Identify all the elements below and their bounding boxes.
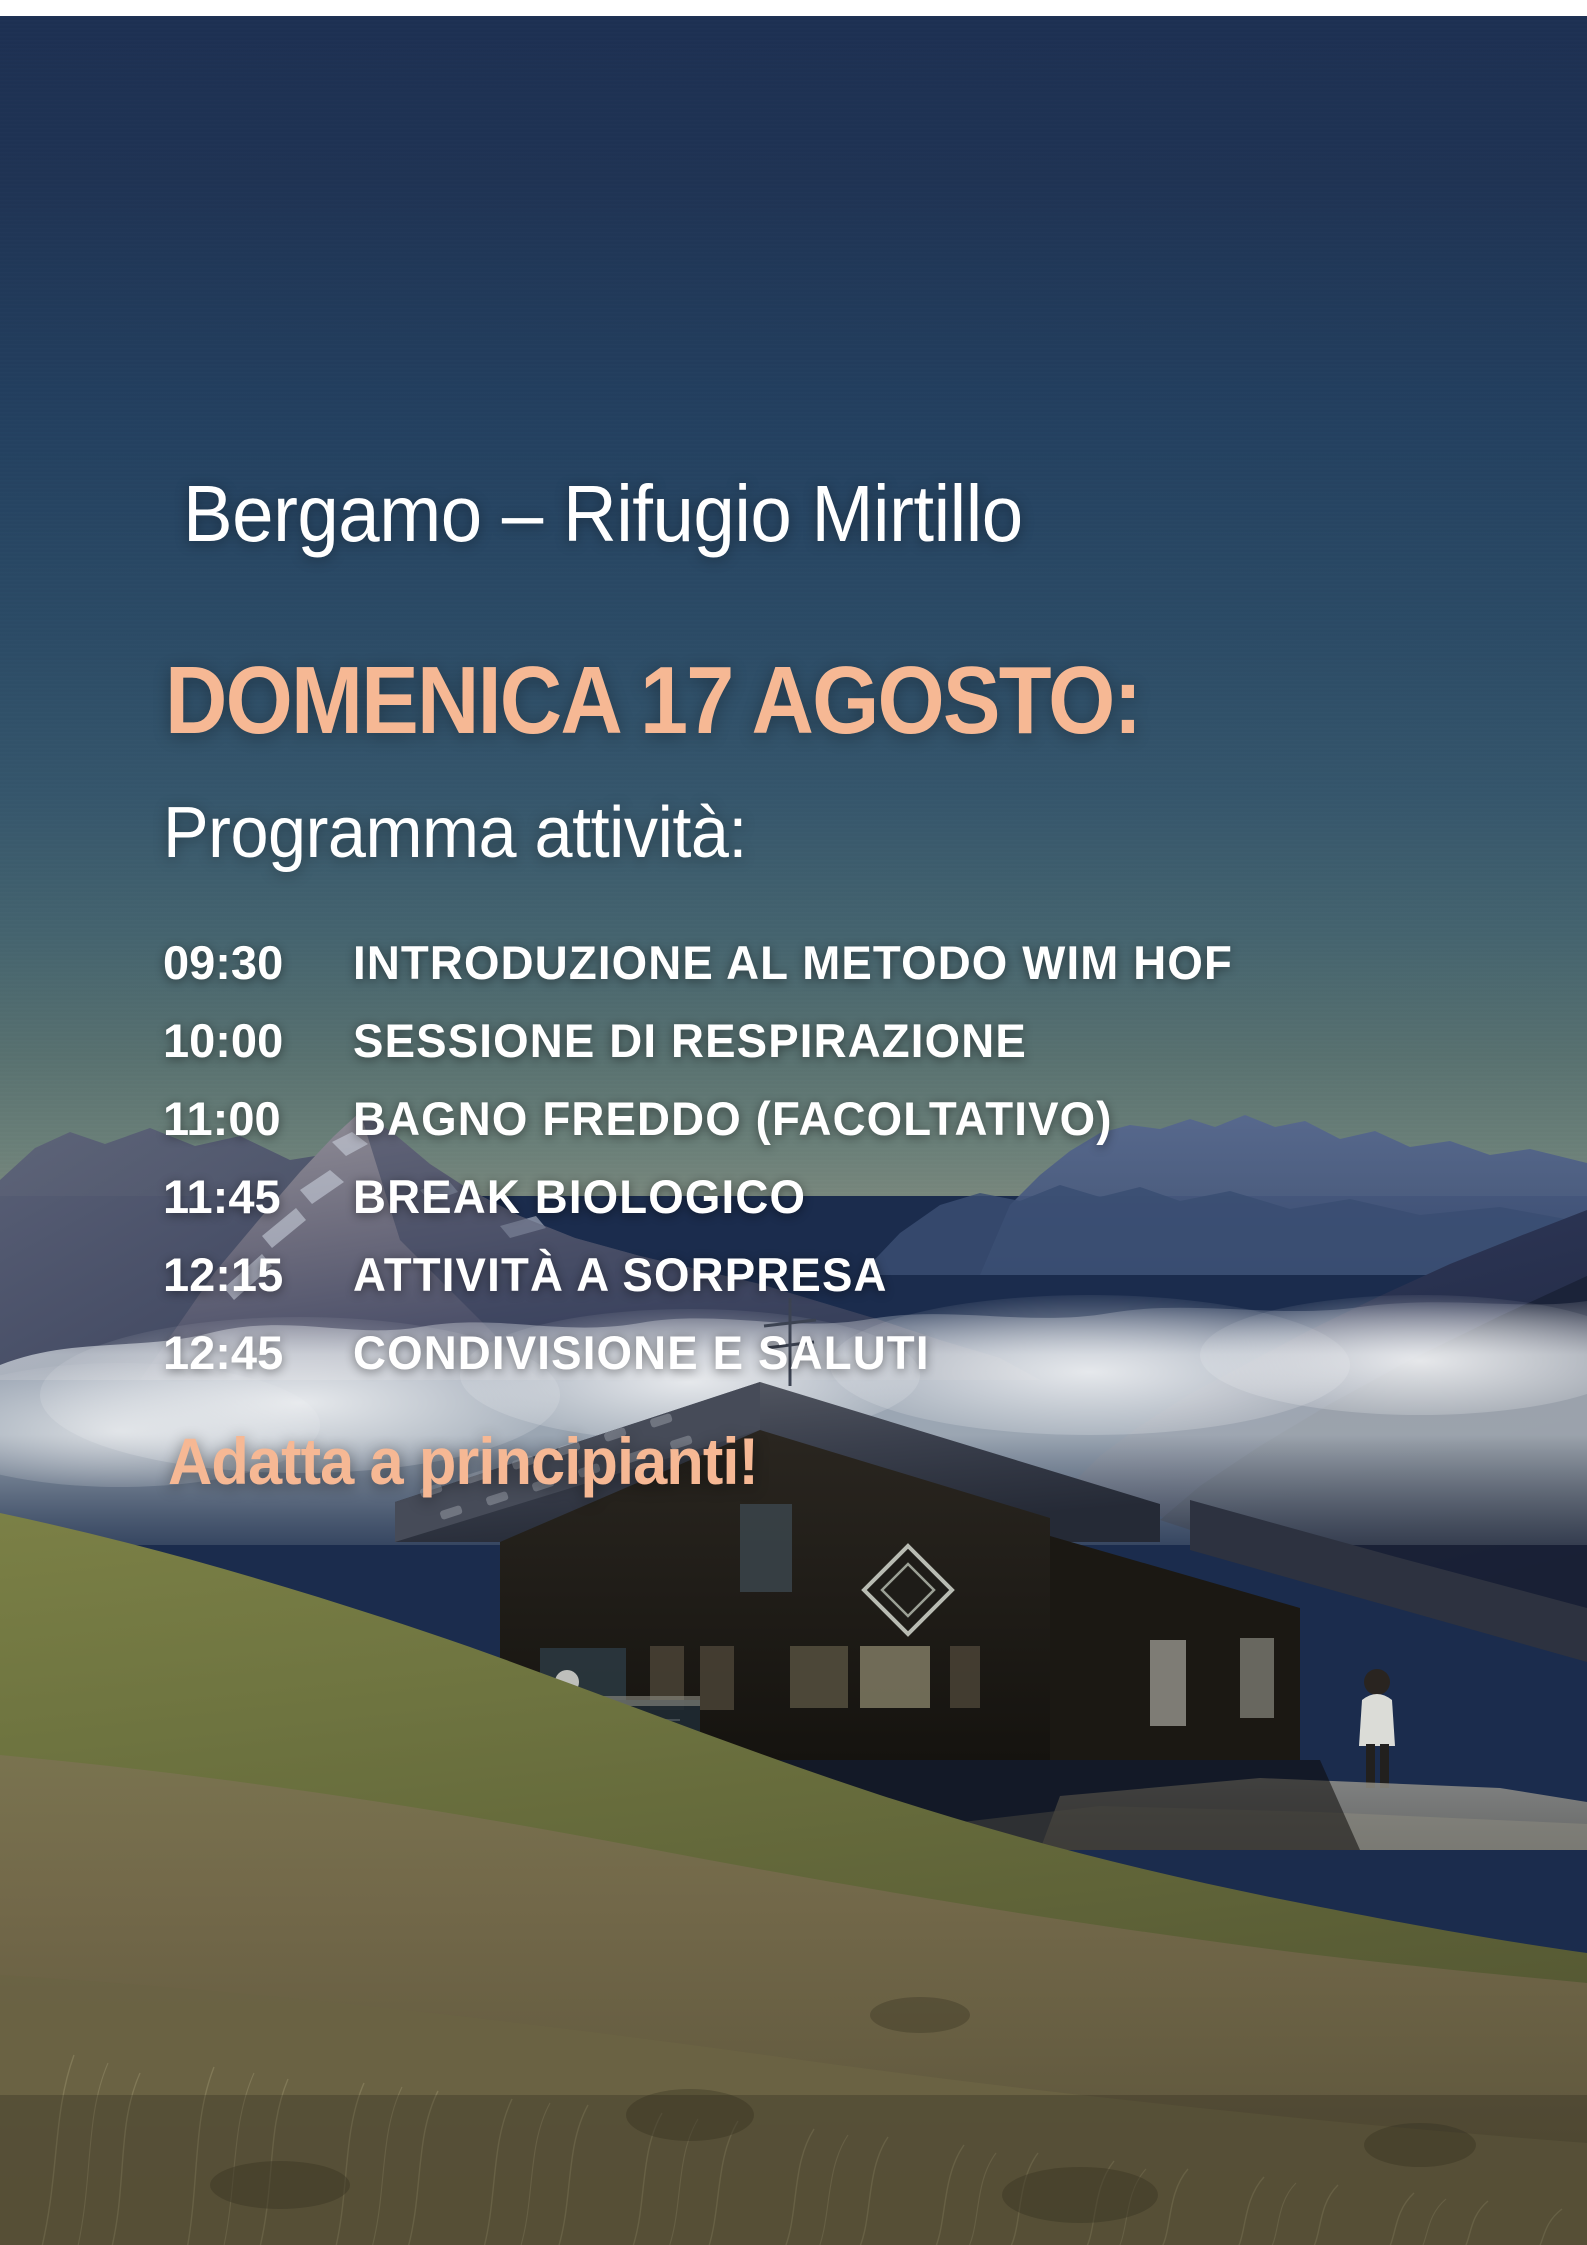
schedule-row: 10:00 SESSIONE DI RESPIRAZIONE — [163, 1013, 1483, 1091]
schedule-list: 09:30 INTRODUZIONE AL METODO WIM HOF 10:… — [163, 935, 1483, 1403]
venue-title: Bergamo – Rifugio Mirtillo — [183, 474, 1023, 554]
schedule-time: 11:00 — [163, 1091, 353, 1146]
date-headline: DOMENICA 17 AGOSTO: — [165, 653, 1141, 749]
poster-text-content: Bergamo – Rifugio Mirtillo DOMENICA 17 A… — [0, 0, 1587, 2245]
programme-subheading: Programma attività: — [163, 797, 747, 869]
schedule-activity: CONDIVISIONE E SALUTI — [353, 1325, 930, 1380]
schedule-activity: BREAK BIOLOGICO — [353, 1169, 806, 1224]
schedule-activity: INTRODUZIONE AL METODO WIM HOF — [353, 935, 1233, 990]
schedule-time: 09:30 — [163, 935, 353, 990]
schedule-row: 09:30 INTRODUZIONE AL METODO WIM HOF — [163, 935, 1483, 1013]
top-white-strip — [0, 0, 1587, 16]
schedule-row: 12:45 CONDIVISIONE E SALUTI — [163, 1325, 1483, 1403]
schedule-time: 12:45 — [163, 1325, 353, 1380]
poster-root: Bergamo – Rifugio Mirtillo DOMENICA 17 A… — [0, 0, 1587, 2245]
schedule-row: 11:45 BREAK BIOLOGICO — [163, 1169, 1483, 1247]
schedule-activity: ATTIVITÀ A SORPRESA — [353, 1247, 888, 1302]
schedule-row: 12:15 ATTIVITÀ A SORPRESA — [163, 1247, 1483, 1325]
schedule-time: 11:45 — [163, 1169, 353, 1224]
schedule-activity: SESSIONE DI RESPIRAZIONE — [353, 1013, 1027, 1068]
beginner-friendly-tagline: Adatta a principianti! — [168, 1428, 758, 1494]
schedule-row: 11:00 BAGNO FREDDO (FACOLTATIVO) — [163, 1091, 1483, 1169]
schedule-time: 10:00 — [163, 1013, 353, 1068]
schedule-time: 12:15 — [163, 1247, 353, 1302]
schedule-activity: BAGNO FREDDO (FACOLTATIVO) — [353, 1091, 1113, 1146]
